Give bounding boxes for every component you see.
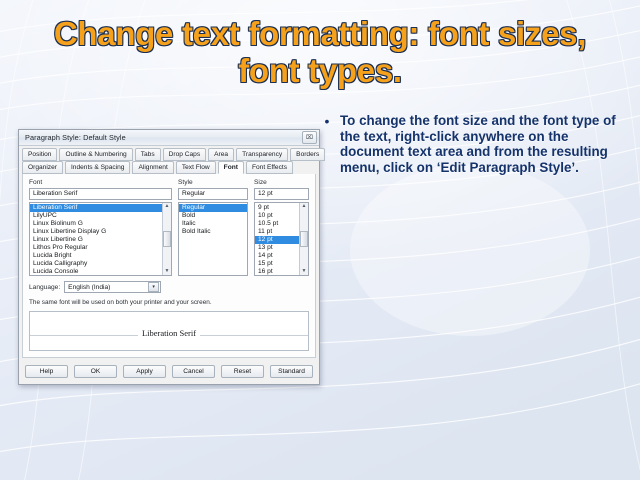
page-title: Change text formatting: font sizes, font… xyxy=(30,16,610,90)
tab-organizer[interactable]: Organizer xyxy=(22,161,63,174)
dialog-titlebar[interactable]: Paragraph Style: Default Style ⌧ xyxy=(19,130,319,146)
font-list-item[interactable]: Linux Libertine G xyxy=(30,236,162,244)
size-list-item[interactable]: 9 pt xyxy=(255,204,299,212)
size-list-items[interactable]: 9 pt10 pt10.5 pt11 pt12 pt13 pt14 pt15 p… xyxy=(255,203,299,275)
style-list-item[interactable]: Bold Italic xyxy=(179,228,247,236)
body-bullet-list: • To change the font size and the font t… xyxy=(322,113,622,175)
size-list-item[interactable]: 10.5 pt xyxy=(255,220,299,228)
tab-transparency[interactable]: Transparency xyxy=(236,148,288,161)
tab-area[interactable]: Area xyxy=(208,148,234,161)
paragraph-style-dialog[interactable]: Paragraph Style: Default Style ⌧ Positio… xyxy=(18,129,320,385)
scroll-down-icon[interactable]: ▼ xyxy=(302,268,307,275)
language-row: Language: English (India) ▾ xyxy=(29,281,309,293)
language-value: English (India) xyxy=(68,284,110,291)
font-listbox[interactable]: Liberation SerifLilyUPCLinux Biolinum GL… xyxy=(29,202,172,276)
font-list-item[interactable]: Lucida Bright xyxy=(30,252,162,260)
tab-tabs[interactable]: Tabs xyxy=(135,148,161,161)
tab-outline-numbering[interactable]: Outline & Numbering xyxy=(59,148,132,161)
scrollbar-thumb[interactable] xyxy=(300,231,308,247)
font-selection-columns: Font Liberation Serif Liberation SerifLi… xyxy=(29,179,309,276)
tab-font[interactable]: Font xyxy=(218,161,244,174)
close-icon[interactable]: ⌧ xyxy=(302,131,317,144)
chevron-down-icon[interactable]: ▾ xyxy=(148,282,159,292)
tab-font-effects[interactable]: Font Effects xyxy=(246,161,293,174)
font-list-items[interactable]: Liberation SerifLilyUPCLinux Biolinum GL… xyxy=(30,203,162,275)
font-tab-panel: Font Liberation Serif Liberation SerifLi… xyxy=(22,174,316,358)
font-size-input[interactable]: 12 pt xyxy=(254,188,309,200)
font-preview-area: Liberation Serif xyxy=(29,311,309,351)
dialog-title: Paragraph Style: Default Style xyxy=(25,133,126,142)
size-list-item[interactable]: 10 pt xyxy=(255,212,299,220)
font-note-text: The same font will be used on both your … xyxy=(29,299,309,306)
style-column-label: Style xyxy=(178,179,248,186)
dialog-button-row[interactable]: HelpOKApplyCancelResetStandard xyxy=(19,361,319,384)
style-list-item[interactable]: Regular xyxy=(179,204,247,212)
font-list-item[interactable]: Linux Biolinum G xyxy=(30,220,162,228)
style-list-item[interactable]: Bold xyxy=(179,212,247,220)
tab-indents-spacing[interactable]: Indents & Spacing xyxy=(65,161,131,174)
standard-button[interactable]: Standard xyxy=(270,365,313,378)
tab-strip-row-2[interactable]: OrganizerIndents & SpacingAlignmentText … xyxy=(19,161,319,174)
size-column: Size 12 pt 9 pt10 pt10.5 pt11 pt12 pt13 … xyxy=(254,179,309,276)
scroll-down-icon[interactable]: ▼ xyxy=(165,268,170,275)
apply-button[interactable]: Apply xyxy=(123,365,166,378)
tab-borders[interactable]: Borders xyxy=(290,148,325,161)
font-list-item[interactable]: Lucida Console xyxy=(30,268,162,276)
size-column-label: Size xyxy=(254,179,309,186)
bullet-marker-icon: • xyxy=(322,113,332,129)
cancel-button[interactable]: Cancel xyxy=(172,365,215,378)
bullet-item-text: To change the font size and the font typ… xyxy=(340,113,622,175)
ok-button[interactable]: OK xyxy=(74,365,117,378)
font-list-item[interactable]: Liberation Serif xyxy=(30,204,162,212)
font-column-label: Font xyxy=(29,179,172,186)
language-select[interactable]: English (India) ▾ xyxy=(64,281,161,293)
style-listbox[interactable]: RegularBoldItalicBold Italic xyxy=(178,202,248,276)
font-list-item[interactable]: Lucida Calligraphy xyxy=(30,260,162,268)
tab-position[interactable]: Position xyxy=(22,148,57,161)
size-list-item[interactable]: 13 pt xyxy=(255,244,299,252)
tab-drop-caps[interactable]: Drop Caps xyxy=(163,148,207,161)
size-list-item[interactable]: 12 pt xyxy=(255,236,299,244)
font-name-input[interactable]: Liberation Serif xyxy=(29,188,172,200)
scroll-up-icon[interactable]: ▲ xyxy=(302,203,307,210)
size-list-item[interactable]: 15 pt xyxy=(255,260,299,268)
reset-button[interactable]: Reset xyxy=(221,365,264,378)
help-button[interactable]: Help xyxy=(25,365,68,378)
size-list-scrollbar[interactable]: ▲ ▼ xyxy=(299,203,308,275)
size-listbox[interactable]: 9 pt10 pt10.5 pt11 pt12 pt13 pt14 pt15 p… xyxy=(254,202,309,276)
style-column: Style Regular RegularBoldItalicBold Ital… xyxy=(178,179,248,276)
tab-alignment[interactable]: Alignment xyxy=(132,161,173,174)
font-list-item[interactable]: Lithos Pro Regular xyxy=(30,244,162,252)
scrollbar-thumb[interactable] xyxy=(163,231,171,247)
tab-text-flow[interactable]: Text Flow xyxy=(176,161,216,174)
language-label: Language: xyxy=(29,284,60,291)
scroll-up-icon[interactable]: ▲ xyxy=(165,203,170,210)
font-list-item[interactable]: LilyUPC xyxy=(30,212,162,220)
font-column: Font Liberation Serif Liberation SerifLi… xyxy=(29,179,172,276)
style-list-item[interactable]: Italic xyxy=(179,220,247,228)
size-list-item[interactable]: 14 pt xyxy=(255,252,299,260)
font-preview-text: Liberation Serif xyxy=(138,328,200,338)
font-list-scrollbar[interactable]: ▲ ▼ xyxy=(162,203,171,275)
font-style-input[interactable]: Regular xyxy=(178,188,248,200)
tab-strip-row-1[interactable]: PositionOutline & NumberingTabsDrop Caps… xyxy=(19,146,319,161)
size-list-item[interactable]: 16 pt xyxy=(255,268,299,276)
size-list-item[interactable]: 11 pt xyxy=(255,228,299,236)
font-list-item[interactable]: Linux Libertine Display G xyxy=(30,228,162,236)
style-list-items[interactable]: RegularBoldItalicBold Italic xyxy=(179,203,247,275)
